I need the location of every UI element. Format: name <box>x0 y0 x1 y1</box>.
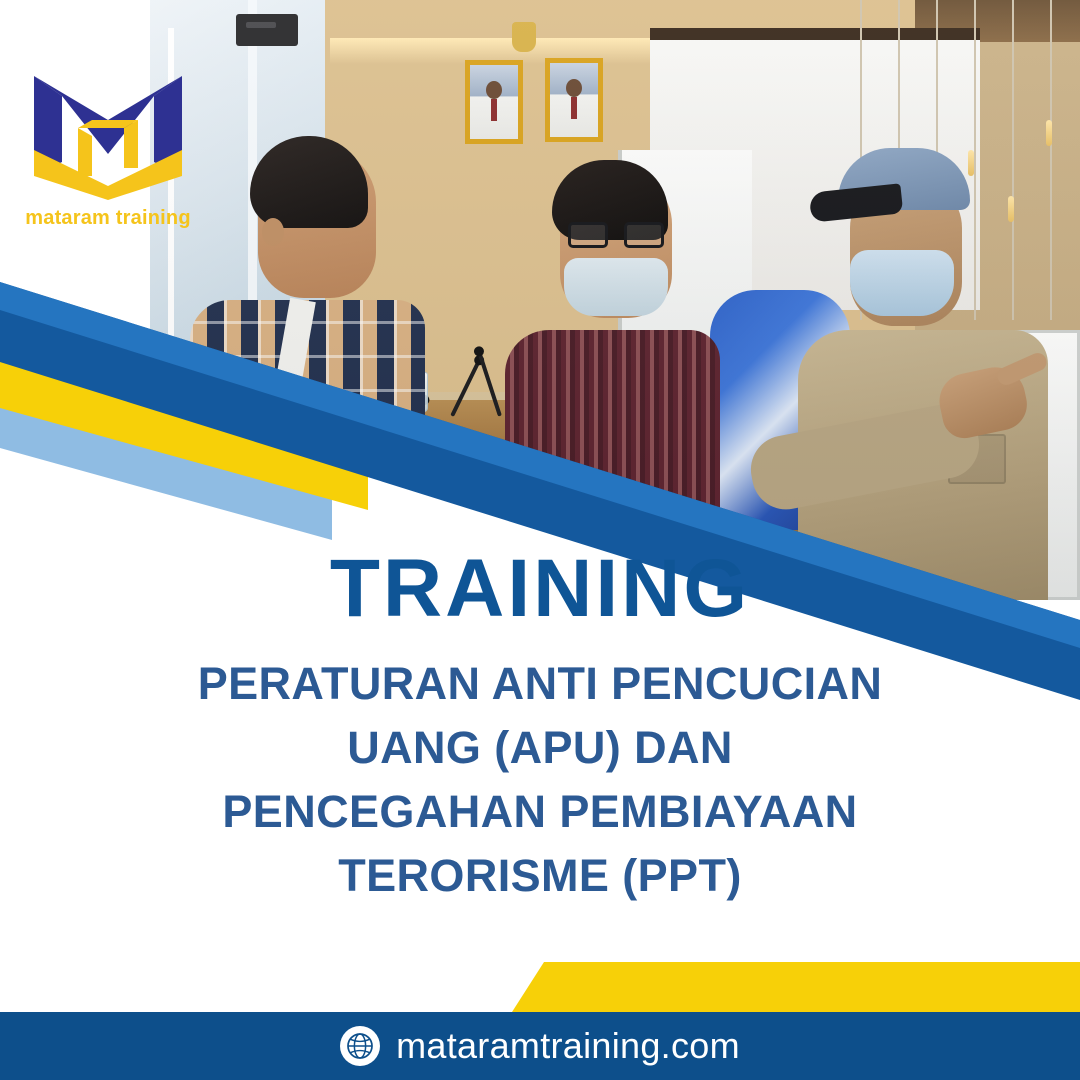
mataram-m-logo-icon <box>28 58 188 203</box>
photo-overlay <box>150 0 1080 600</box>
promo-poster: mataram training TRAINING PERATURAN ANTI… <box>0 0 1080 1080</box>
footer-bar: mataramtraining.com <box>0 1012 1080 1080</box>
poster-text: TRAINING PERATURAN ANTI PENCUCIAN UANG (… <box>0 548 1080 908</box>
poster-subtitle: PERATURAN ANTI PENCUCIAN UANG (APU) DAN … <box>0 652 1080 908</box>
brand-logo[interactable]: mataram training <box>18 58 198 230</box>
page-title: TRAINING <box>0 548 1080 630</box>
subtitle-line: UANG (APU) DAN <box>0 716 1080 780</box>
website-url[interactable]: mataramtraining.com <box>396 1025 740 1067</box>
photo-scene <box>150 0 1080 600</box>
globe-glyph <box>345 1031 375 1061</box>
globe-icon <box>340 1026 380 1066</box>
logo-wordmark: mataram training <box>18 207 198 230</box>
subtitle-line: PENCEGAHAN PEMBIAYAAN <box>0 780 1080 844</box>
subtitle-line: PERATURAN ANTI PENCUCIAN <box>0 652 1080 716</box>
footer-yellow-accent <box>512 962 1080 1012</box>
subtitle-line: TERORISME (PPT) <box>0 844 1080 908</box>
